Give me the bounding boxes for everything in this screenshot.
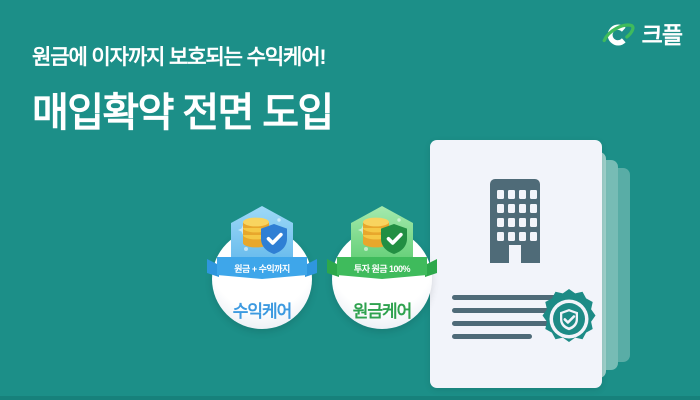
brand-logo-text: 크플: [642, 24, 682, 47]
badge-ribbon-text: 투자 원금 100%: [327, 257, 437, 279]
badge-ribbon-text: 원금 + 수익까지: [207, 257, 317, 279]
paper-sheet-front: [430, 140, 602, 388]
document-text-line: [452, 334, 532, 339]
office-building-icon: [484, 178, 546, 263]
badge-label: 수익케어: [205, 297, 319, 322]
banner-title: 매입확약 전면 도입: [32, 80, 333, 138]
crefle-c-orbit-logo-icon: [601, 18, 635, 52]
contract-document-illustration: [430, 140, 680, 390]
brand-logo[interactable]: 크플: [601, 18, 682, 52]
bottom-accent-band: [0, 396, 700, 400]
badge-ribbon: 원금 + 수익까지: [207, 257, 317, 279]
badge-ribbon: 투자 원금 100%: [327, 257, 437, 279]
badge-wongeum-care[interactable]: 투자 원금 100% 원금케어: [325, 205, 439, 335]
banner-subtitle: 원금에 이자까지 보호되는 수익케어!: [32, 41, 325, 71]
certified-seal-shield-check-icon: [538, 288, 600, 350]
promo-banner: 크플 원금에 이자까지 보호되는 수익케어! 매입확약 전면 도입: [0, 0, 700, 400]
feature-badges: 원금 + 수익까지 수익케어: [205, 205, 445, 335]
badge-suik-care[interactable]: 원금 + 수익까지 수익케어: [205, 205, 319, 335]
badge-label: 원금케어: [325, 297, 439, 322]
